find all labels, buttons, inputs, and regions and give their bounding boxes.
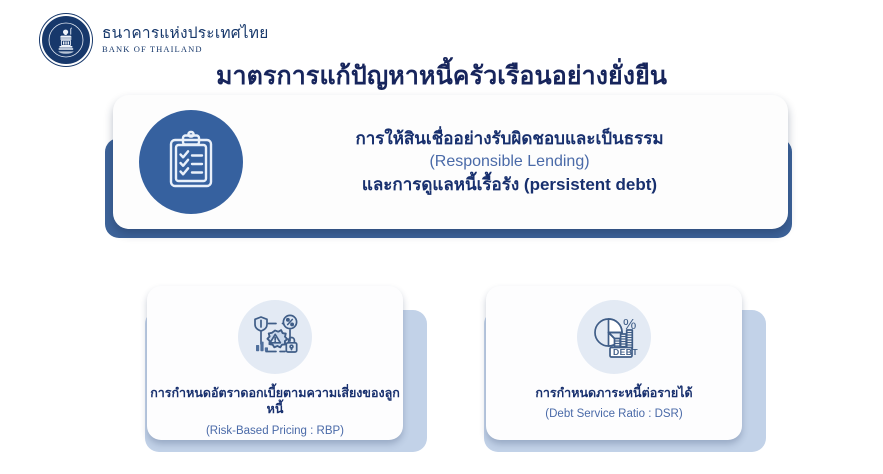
responsible-lending-card[interactable]: การให้สินเชื่ออย่างรับผิดชอบและเป็นธรรม … <box>113 95 788 229</box>
dsr-subtitle: (Debt Service Ratio : DSR) <box>545 408 682 420</box>
risk-based-pricing-card[interactable]: การกำหนดอัตราดอกเบี้ยตามความเสี่ยงของลูก… <box>147 286 403 440</box>
debt-pie-chart-icon: % DEBT <box>577 300 651 374</box>
hero-text-block: การให้สินเชื่ออย่างรับผิดชอบและเป็นธรรม … <box>261 127 770 198</box>
risk-shield-gear-percent-icon <box>238 300 312 374</box>
hero-line-3: และการดูแลหนี้เรื้อรัง (persistent debt) <box>261 173 758 197</box>
brand-text-block: ธนาคารแห่งประเทศไทย BANK OF THAILAND <box>102 26 268 53</box>
rbp-title: การกำหนดอัตราดอกเบี้ยตามความเสี่ยงของลูก… <box>147 385 403 418</box>
rbp-subtitle: (Risk-Based Pricing : RBP) <box>206 425 344 437</box>
brand-name-th: ธนาคารแห่งประเทศไทย <box>102 26 268 42</box>
rbp-card-group: การกำหนดอัตราดอกเบี้ยตามความเสี่ยงของลูก… <box>131 286 431 452</box>
slide-root: ธนาคารแห่งประเทศไทย BANK OF THAILAND มาต… <box>0 0 883 474</box>
dsr-card-group: % DEBT <box>470 286 770 452</box>
clipboard-checklist-icon <box>139 110 243 214</box>
svg-text:DEBT: DEBT <box>613 347 638 357</box>
brand-name-en: BANK OF THAILAND <box>102 45 268 54</box>
hero-line-2: (Responsible Lending) <box>261 151 758 174</box>
debt-service-ratio-card[interactable]: % DEBT <box>486 286 742 440</box>
hero-card-group: การให้สินเชื่ออย่างรับผิดชอบและเป็นธรรม … <box>100 90 794 252</box>
dsr-title: การกำหนดภาระหนี้ต่อรายได้ <box>535 385 692 401</box>
hero-line-1: การให้สินเชื่ออย่างรับผิดชอบและเป็นธรรม <box>261 127 758 151</box>
